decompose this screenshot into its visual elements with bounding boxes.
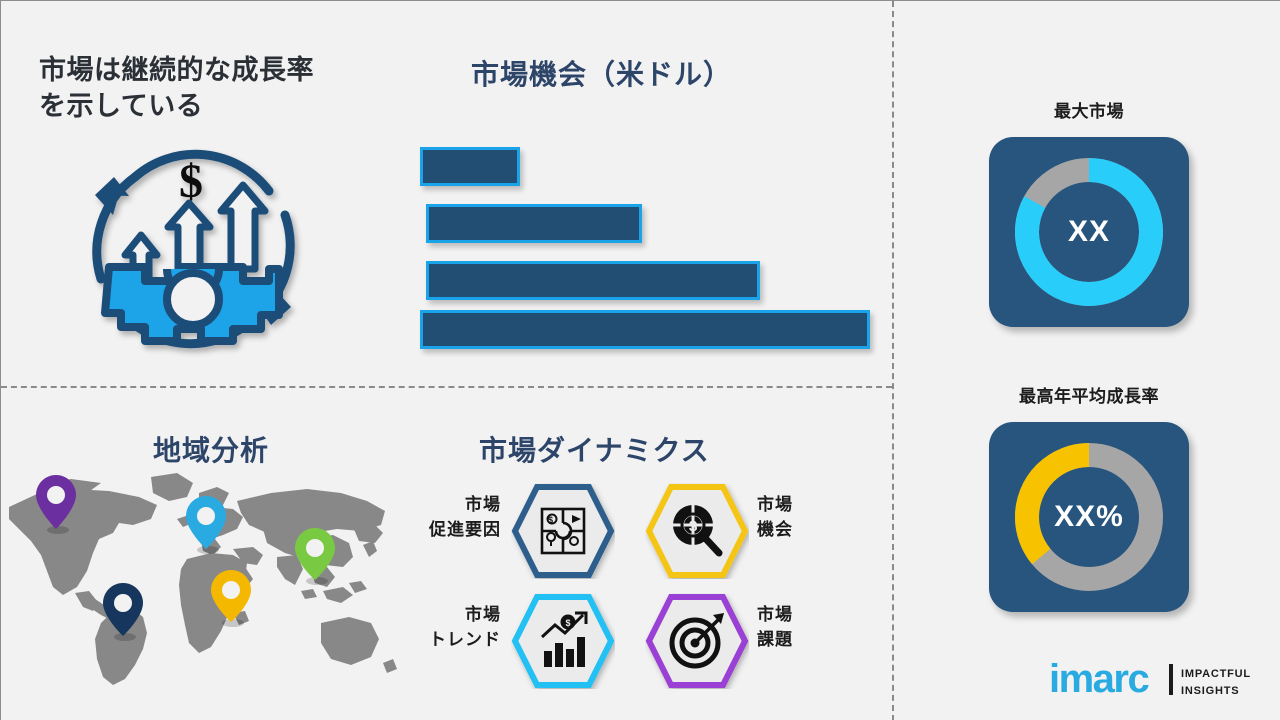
dynamics-hex-market-challenges[interactable] <box>645 593 749 689</box>
donut-tile-largest-market: XX <box>989 137 1189 327</box>
svg-text:$: $ <box>565 618 570 628</box>
page-title-line2: を示している <box>39 89 389 125</box>
page-title-line1: 市場は継続的な成長率 <box>39 53 389 89</box>
donut-caption-highest-cagr: 最高年平均成長率 <box>989 382 1189 407</box>
dollar-glyph: $ <box>179 155 203 208</box>
dynamics-hex-market-trends[interactable]: $ <box>511 593 615 689</box>
bar-row <box>420 147 520 186</box>
world-map <box>1 467 401 693</box>
donut-value-largest-market: XX <box>989 137 1189 327</box>
region-panel-title: 地域分析 <box>153 429 269 469</box>
logo-divider-bar <box>1169 664 1173 695</box>
dynamics-label-market-drivers: 市場 促進要因 <box>401 493 501 542</box>
svg-text:$: $ <box>689 518 698 535</box>
dynamics-hex-market-opportunities[interactable]: $ <box>645 483 749 579</box>
bar-chart <box>420 147 880 351</box>
bar-row <box>426 204 642 243</box>
growth-cycle-gear-icon: $ <box>73 129 313 365</box>
page-title: 市場は継続的な成長率 を示している <box>39 53 389 124</box>
horizontal-dashed-divider <box>1 386 892 388</box>
dynamics-label-market-opportunities: 市場 機会 <box>757 493 857 542</box>
imarc-logo[interactable]: imarc IMPACTFUL INSIGHTS <box>1049 659 1264 707</box>
logo-tagline: IMPACTFUL INSIGHTS <box>1181 666 1251 699</box>
dynamics-label-market-trends: 市場 トレンド <box>393 603 501 652</box>
dynamics-panel-title: 市場ダイナミクス <box>479 429 710 469</box>
bar-chart-title: 市場機会（米ドル） <box>471 53 732 93</box>
bar-row <box>420 310 870 349</box>
donut-tile-highest-cagr: XX% <box>989 422 1189 612</box>
infographic-slide: 市場は継続的な成長率 を示している $ <box>0 0 1280 720</box>
donut-value-highest-cagr: XX% <box>989 422 1189 612</box>
bar-row <box>426 261 760 300</box>
donut-caption-largest-market: 最大市場 <box>989 97 1189 122</box>
logo-brand-text: imarc <box>1049 657 1148 702</box>
vertical-dashed-divider <box>892 1 894 720</box>
pin-europe <box>186 496 226 554</box>
dynamics-hex-market-drivers[interactable]: $ <box>511 483 615 579</box>
dynamics-label-market-challenges: 市場 課題 <box>757 603 857 652</box>
